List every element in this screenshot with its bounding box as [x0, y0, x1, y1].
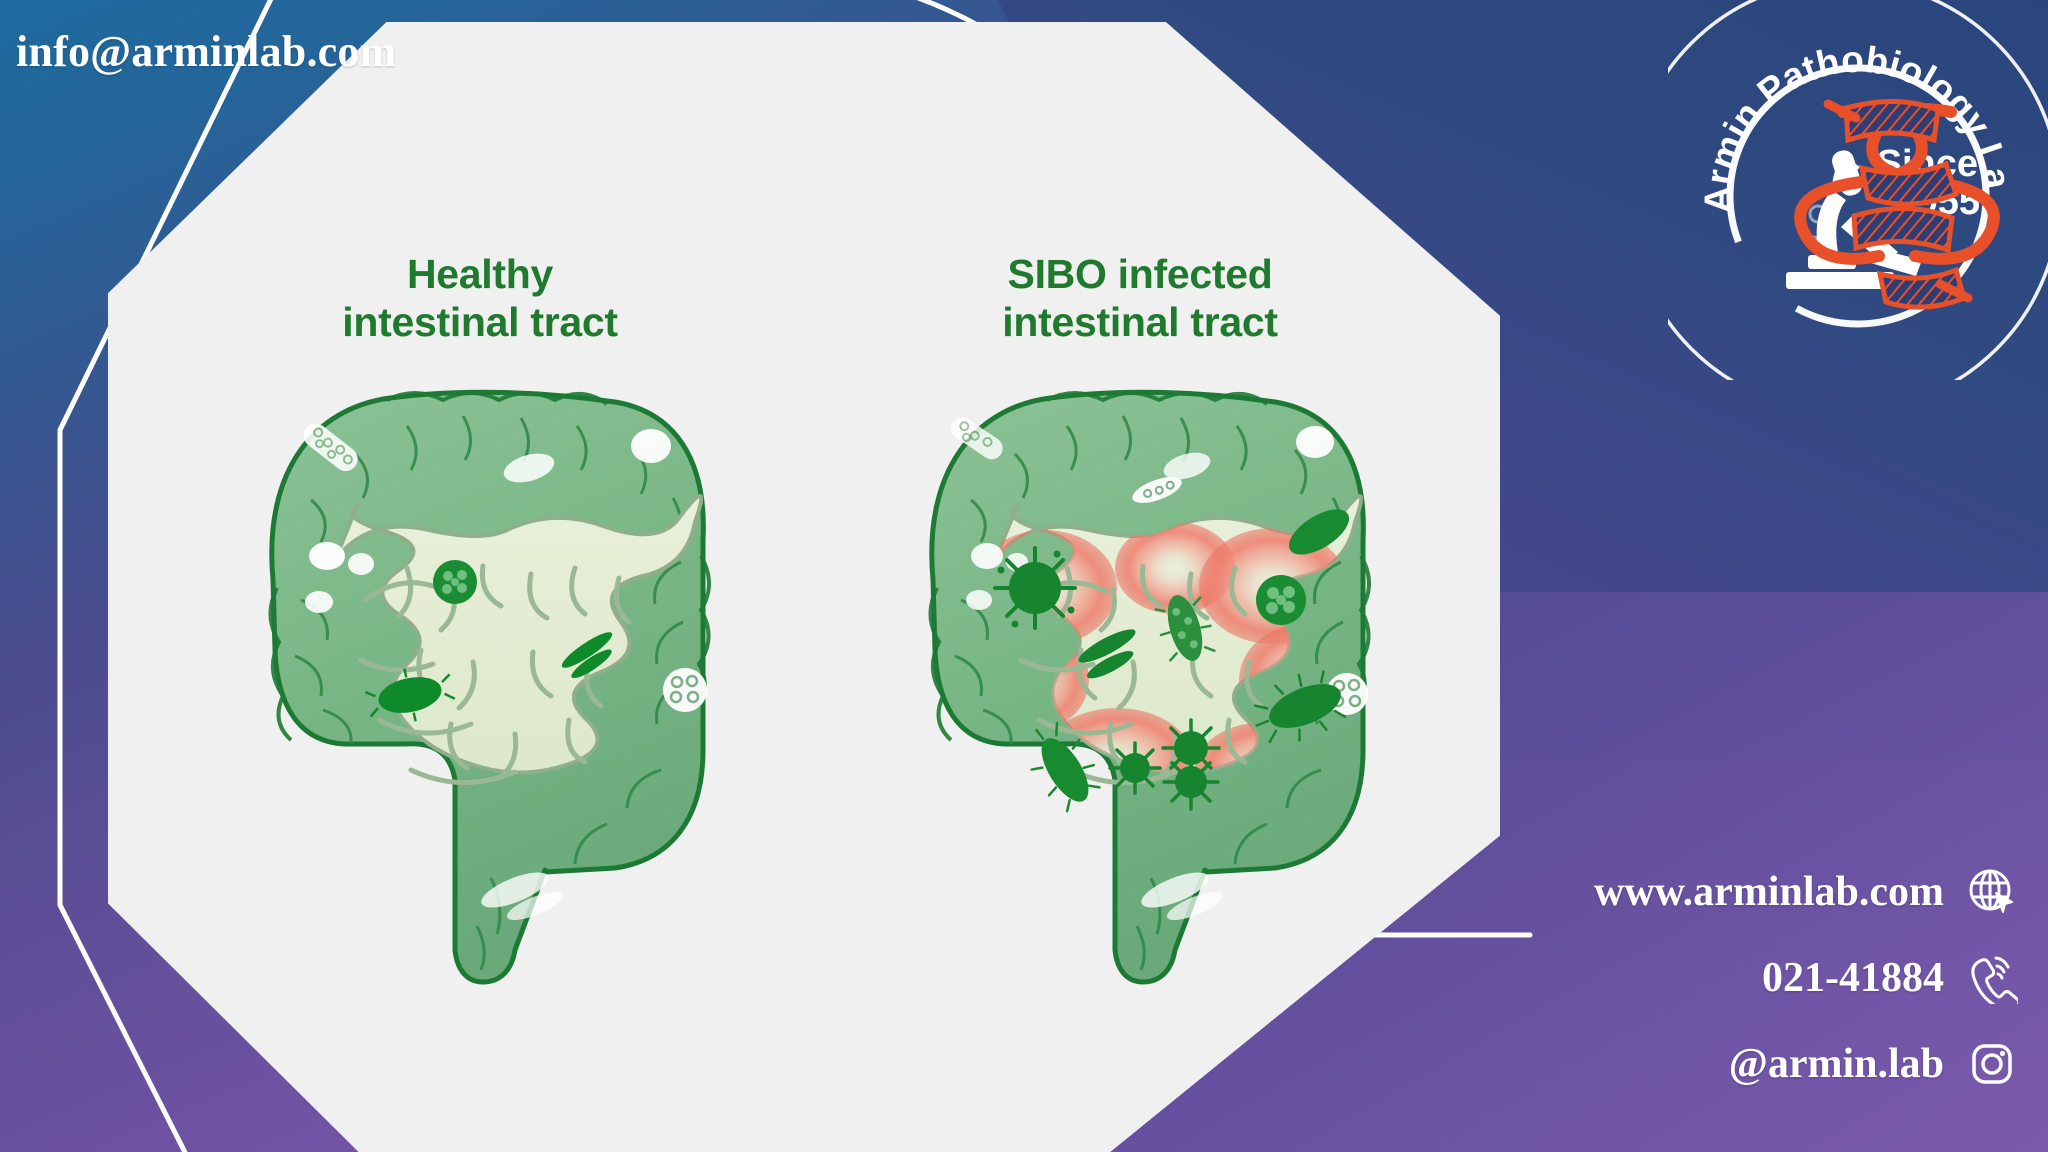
panel-healthy-title: Healthy intestinal tract: [150, 250, 810, 347]
panel-healthy: Healthy intestinal tract: [150, 250, 810, 1010]
instagram-label: @armin.lab: [1729, 1043, 1944, 1085]
globe-cursor-icon: [1966, 866, 2018, 918]
contact-block: www.arminlab.com 021-41884 @armin.lab: [1458, 866, 2018, 1090]
poster-canvas: info@arminlab.com Armin Pathobiology Lab…: [0, 0, 2048, 1152]
sibo-intestine-illustration: [810, 350, 1470, 1000]
website-label: www.arminlab.com: [1594, 871, 1944, 913]
healthy-intestine-illustration: [150, 350, 810, 1000]
contact-row-website[interactable]: www.arminlab.com: [1458, 866, 2018, 918]
instagram-icon: [1966, 1038, 2018, 1090]
contact-row-instagram[interactable]: @armin.lab: [1458, 1038, 2018, 1090]
illustration-panels: Healthy intestinal tract: [150, 250, 1470, 1010]
contact-row-phone[interactable]: 021-41884: [1458, 952, 2018, 1004]
phone-label: 021-41884: [1762, 957, 1944, 999]
email-address[interactable]: info@arminlab.com: [16, 26, 396, 77]
brand-logo[interactable]: Armin Pathobiology Lab Since 1955: [1668, 0, 2048, 380]
phone-ring-icon: [1966, 952, 2018, 1004]
panel-sibo: SIBO infected intestinal tract: [810, 250, 1470, 1010]
panel-sibo-title: SIBO infected intestinal tract: [810, 250, 1470, 347]
